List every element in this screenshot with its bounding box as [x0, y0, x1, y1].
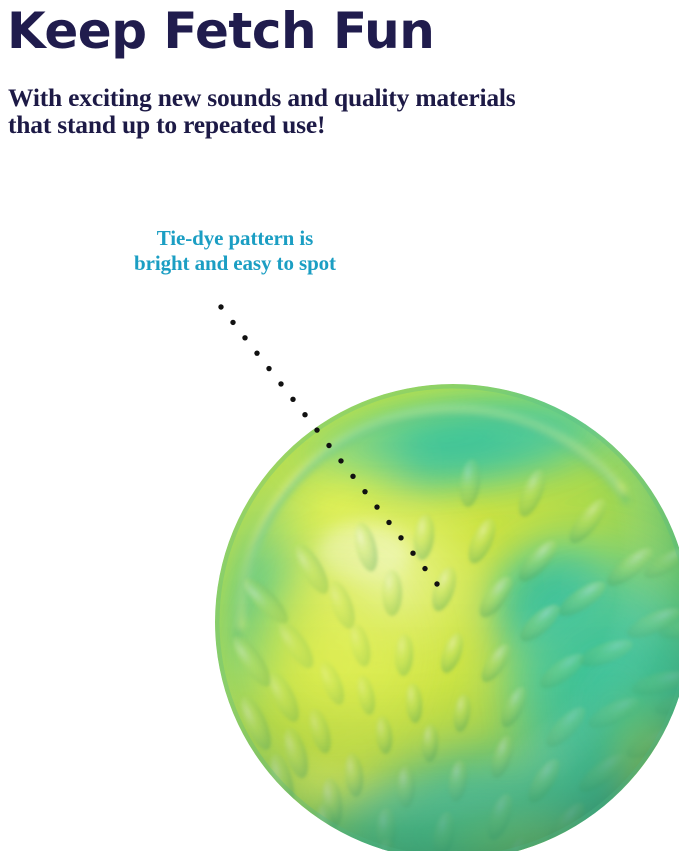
feature-callout-line-1: Tie-dye pattern is: [157, 226, 313, 250]
leader-dot: [266, 366, 271, 371]
product-image: [214, 383, 679, 851]
subtitle: With exciting new sounds and quality mat…: [8, 84, 658, 138]
leader-dot: [254, 350, 259, 355]
product-infographic: Keep Fetch Fun With exciting new sounds …: [0, 0, 679, 851]
ball-illustration: [214, 383, 679, 851]
feature-callout-line-2: bright and easy to spot: [60, 251, 410, 276]
leader-dot: [218, 304, 223, 309]
subtitle-line-1: With exciting new sounds and quality mat…: [8, 83, 516, 112]
leader-dot: [230, 320, 235, 325]
leader-dot: [242, 335, 247, 340]
ball-body: [214, 383, 679, 851]
feature-callout: Tie-dye pattern is bright and easy to sp…: [60, 226, 410, 276]
subtitle-line-2: that stand up to repeated use!: [8, 111, 658, 138]
page-title: Keep Fetch Fun: [7, 2, 667, 60]
